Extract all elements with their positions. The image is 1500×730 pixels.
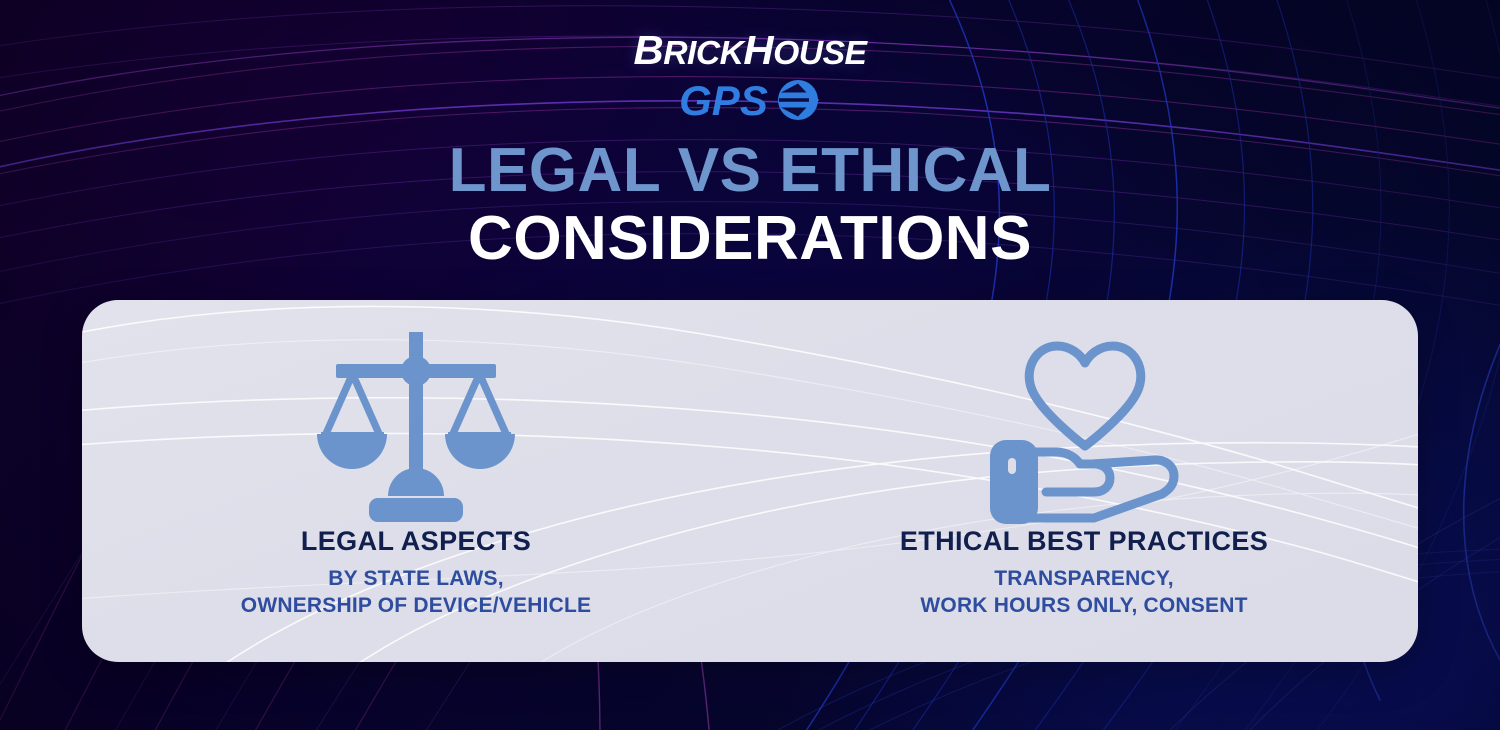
logo-brand-h: H	[743, 27, 773, 73]
headline-line-1: LEGAL VS ETHICAL	[0, 140, 1500, 202]
logo-brand-rick: RICK	[663, 34, 743, 71]
column-title-ethical: ETHICAL BEST PRACTICES	[900, 526, 1268, 557]
infographic-canvas: BRICKHOUSE GPS LEGAL VS ETHICAL CONSIDER…	[0, 0, 1500, 730]
column-subtitle-ethical: TRANSPARENCY, WORK HOURS ONLY, CONSENT	[920, 566, 1247, 620]
page-title: LEGAL VS ETHICAL CONSIDERATIONS	[0, 140, 1500, 270]
arrow-circle-icon	[775, 77, 821, 127]
brickhouse-gps-logo: BRICKHOUSE GPS	[0, 30, 1500, 127]
column-title-legal: LEGAL ASPECTS	[301, 526, 531, 557]
heart-in-hand-icon	[984, 326, 1184, 526]
logo-second-row: GPS	[0, 75, 1500, 127]
headline-line-2: CONSIDERATIONS	[0, 208, 1500, 270]
column-subtitle-ethical-line1: TRANSPARENCY,	[920, 566, 1247, 593]
scales-of-justice-icon	[316, 326, 516, 526]
logo-brand-text: BRICKHOUSE	[0, 30, 1500, 71]
column-subtitle-ethical-line2: WORK HOURS ONLY, CONSENT	[920, 593, 1247, 620]
logo-brand-ouse: OUSE	[773, 34, 866, 71]
card-columns: LEGAL ASPECTS BY STATE LAWS, OWNERSHIP O…	[82, 300, 1418, 662]
logo-product-text: GPS	[679, 80, 768, 122]
column-subtitle-legal: BY STATE LAWS, OWNERSHIP OF DEVICE/VEHIC…	[241, 566, 591, 620]
column-legal-aspects: LEGAL ASPECTS BY STATE LAWS, OWNERSHIP O…	[82, 300, 750, 662]
column-subtitle-legal-line1: BY STATE LAWS,	[241, 566, 591, 593]
comparison-card: LEGAL ASPECTS BY STATE LAWS, OWNERSHIP O…	[82, 300, 1418, 662]
column-subtitle-legal-line2: OWNERSHIP OF DEVICE/VEHICLE	[241, 593, 591, 620]
logo-brand-b: B	[633, 27, 663, 73]
column-ethical-best-practices: ETHICAL BEST PRACTICES TRANSPARENCY, WOR…	[750, 300, 1418, 662]
